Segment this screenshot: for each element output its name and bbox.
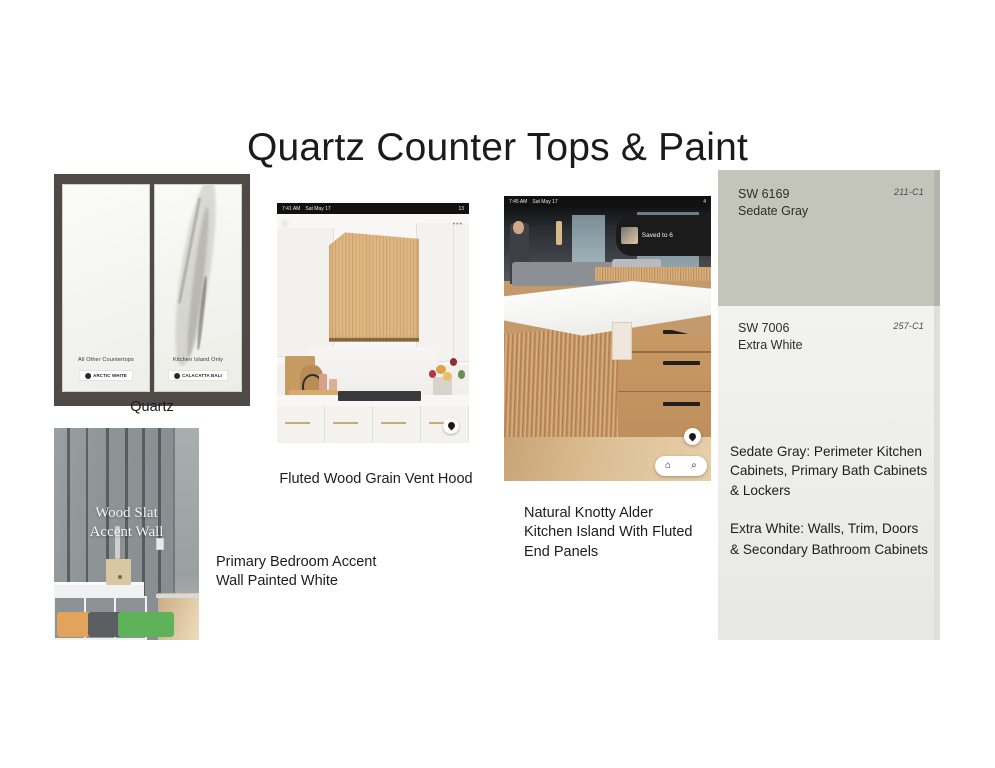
quartz-brand-sticker: CALACATTA BALI xyxy=(168,370,228,381)
drawer-pull xyxy=(285,422,309,424)
brand-logo-icon xyxy=(174,373,180,379)
phone-status-bar: 7:41 AM Sat May 17 13 xyxy=(277,203,469,214)
kitchen-island-photo[interactable]: 7:45 AM Sat May 17 4 xyxy=(504,196,711,481)
paint-note-sedate-gray: Sedate Gray: Perimeter Kitchen Cabinets,… xyxy=(730,442,930,500)
overlay-line-1: Wood Slat xyxy=(54,504,199,522)
vent-hood-underside xyxy=(329,338,419,341)
pin-icon xyxy=(687,432,697,442)
quartz-slab-calacatta-bali: Kitchen Island Only CALACATTA BALI xyxy=(154,184,242,392)
pin-save-button[interactable] xyxy=(684,428,701,445)
status-date: Sat May 17 xyxy=(532,199,557,205)
status-date: Sat May 17 xyxy=(305,206,330,212)
status-battery: 13 xyxy=(458,206,464,212)
flower-leaf xyxy=(458,370,466,379)
status-bar-left: 7:45 AM Sat May 17 xyxy=(509,199,558,205)
bottom-nav-bar[interactable]: ⌂ ⌕ xyxy=(655,456,707,476)
kitchen-island-scene: Saved to 6 ⌂ ⌕ xyxy=(504,207,711,481)
paint-chip-code: 211-C1 xyxy=(894,186,924,197)
drawer-seam xyxy=(618,391,711,393)
paint-swatch-header-sedate-gray: SW 6169 Sedate Gray 211-C1 xyxy=(738,186,924,219)
status-bar-left: 7:41 AM Sat May 17 xyxy=(282,206,331,212)
caption-quartz: Quartz xyxy=(54,398,250,417)
phone-status-bar: 7:45 AM Sat May 17 4 xyxy=(504,196,711,207)
paint-swatch-edge xyxy=(934,306,940,640)
upper-cabinet-far-right xyxy=(453,223,469,360)
decor-box xyxy=(106,559,131,584)
home-icon[interactable]: ⌂ xyxy=(665,461,671,471)
vent-hood-scene xyxy=(277,214,469,443)
baseboard xyxy=(156,594,200,598)
accent-wall-photo[interactable]: Wood Slat Accent Wall xyxy=(54,428,199,640)
paint-usage-notes: Sedate Gray: Perimeter Kitchen Cabinets,… xyxy=(730,442,930,560)
quartz-brand-sticker: ARCTIC WHITE xyxy=(79,370,133,381)
drawer-pull xyxy=(333,422,357,424)
status-time: 7:41 AM xyxy=(282,206,300,212)
caption-vent-hood: Fluted Wood Grain Vent Hood xyxy=(268,470,484,489)
fluted-wood-vent-hood xyxy=(329,232,419,342)
drawer-handle xyxy=(663,330,700,334)
drawer-pull xyxy=(381,422,405,424)
upper-cabinet-left xyxy=(277,228,334,357)
toy-item xyxy=(118,612,174,637)
drawer-handle xyxy=(663,361,700,365)
induction-cooktop xyxy=(338,391,421,400)
paint-note-extra-white: Extra White: Walls, Trim, Doors & Second… xyxy=(730,519,930,560)
drawer xyxy=(277,406,325,443)
brand-logo-icon xyxy=(85,373,91,379)
paint-name: Extra White xyxy=(738,337,803,354)
paint-code: SW 7006 xyxy=(738,320,803,337)
page-title: Quartz Counter Tops & Paint xyxy=(0,126,995,170)
paint-chip-code: 257-C1 xyxy=(893,320,924,331)
showroom-price-tag xyxy=(612,322,633,360)
status-battery: 4 xyxy=(703,199,706,205)
cube-shelf xyxy=(54,582,144,640)
flower-bloom xyxy=(443,372,452,381)
paint-swatch-names: SW 7006 Extra White xyxy=(738,320,803,353)
drawer-handle xyxy=(663,402,700,406)
toast-thumbnail xyxy=(621,227,638,244)
paint-swatch-header-extra-white: SW 7006 Extra White 257-C1 xyxy=(738,320,924,353)
decor-box-hole xyxy=(118,575,122,579)
toast-label: Saved to 6 xyxy=(642,232,673,239)
paint-name: Sedate Gray xyxy=(738,203,808,220)
caption-kitchen-island: Natural Knotty Alder Kitchen Island With… xyxy=(524,504,704,562)
pin-icon xyxy=(446,421,456,431)
overlay-line-2: Accent Wall xyxy=(54,523,199,541)
accent-wall-overlay-text: Wood Slat Accent Wall xyxy=(54,504,199,541)
lower-cabinets xyxy=(277,406,469,443)
saved-toast[interactable]: Saved to 6 xyxy=(616,215,711,256)
paint-code: SW 6169 xyxy=(738,186,808,203)
drawer xyxy=(325,406,373,443)
counter-stools xyxy=(595,267,711,281)
person-head xyxy=(513,221,523,235)
quartz-brand-label: CALACATTA BALI xyxy=(182,373,222,378)
vent-hood-photo[interactable]: 7:41 AM Sat May 17 13 xyxy=(277,203,469,443)
quartz-slab-label: Kitchen Island Only xyxy=(155,357,241,363)
paint-swatch-edge xyxy=(934,170,940,306)
wall-sconce xyxy=(556,221,562,246)
quartz-sample-photo[interactable]: All Other Countertops ARCTIC WHITE Kitch… xyxy=(54,174,250,406)
quartz-slab-arctic-white: All Other Countertops ARCTIC WHITE xyxy=(62,184,150,392)
flower-bloom xyxy=(429,370,437,378)
presentation-slide: Quartz Counter Tops & Paint All Other Co… xyxy=(0,0,995,768)
window xyxy=(572,215,605,262)
search-icon[interactable]: ⌕ xyxy=(691,461,697,471)
drawer xyxy=(373,406,421,443)
quartz-island-countertop xyxy=(504,281,711,336)
caption-accent-wall: Primary Bedroom Accent Wall Painted Whit… xyxy=(216,553,396,592)
quartz-brand-label: ARCTIC WHITE xyxy=(93,373,127,378)
quartz-slab-pair: All Other Countertops ARCTIC WHITE Kitch… xyxy=(62,184,242,392)
paint-color-card[interactable]: SW 6169 Sedate Gray 211-C1 SW 7006 Extra… xyxy=(718,170,940,640)
paint-swatch-names: SW 6169 Sedate Gray xyxy=(738,186,808,219)
status-time: 7:45 AM xyxy=(509,199,527,205)
overflow-dots-icon[interactable]: ••• xyxy=(453,221,463,228)
chevron-left-icon[interactable]: ‹ xyxy=(283,219,287,230)
quartz-slab-label: All Other Countertops xyxy=(63,357,149,363)
